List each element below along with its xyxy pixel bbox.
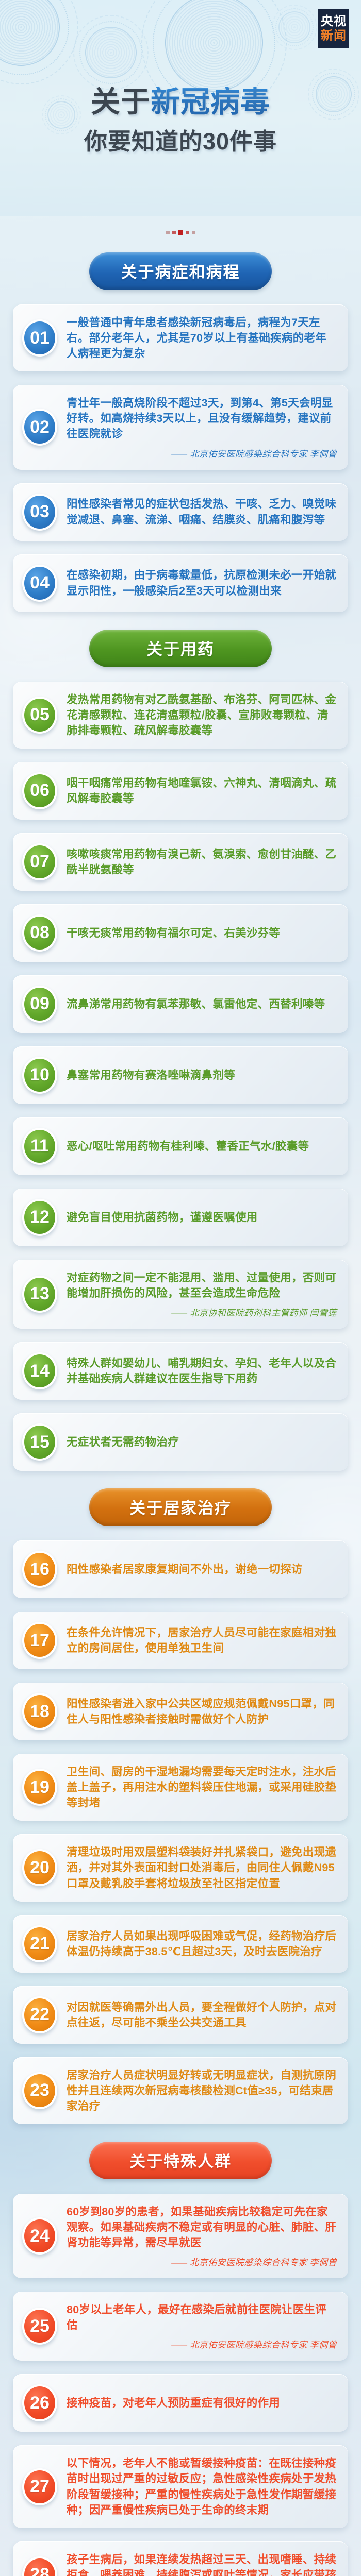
fact-text: 特殊人群如婴幼儿、哺乳期妇女、孕妇、老年人以及合并基础疾病人群建议在医生指导下用… (67, 1355, 337, 1386)
fact-number-badge: 28 (22, 2556, 57, 2576)
fact-attribution: —— 北京佑安医院感染综合科专家 李侗曾 (67, 2255, 337, 2268)
fact-number-badge: 06 (22, 772, 57, 809)
fact-text: 清理垃圾时用双层塑料袋装好并扎紧袋口，避免出现遗洒，并对其外表面和封口处消毒后，… (67, 1844, 337, 1891)
fact-text: 居家治疗人员症状明显好转或无明显症状，自测抗原阴性并且连续两次新冠病毒核酸检测C… (67, 2067, 337, 2114)
fact-card: 03阳性感染者常见的症状包括发热、干咳、乏力、嗅觉味觉减退、鼻塞、流涕、咽痛、结… (13, 483, 348, 541)
fact-body: 接种疫苗，对老年人预防重症有很好的作用 (67, 2395, 337, 2411)
fact-text: 阳性感染者进入家中公共区域应规范佩戴N95口罩，同住人与阳性感染者接触时需做好个… (67, 1696, 337, 1727)
fact-body: 60岁到80岁的患者，如果基础疾病比较稳定可先在家观察。如果基础疾病不稳定或有明… (67, 2204, 337, 2268)
fact-body: 青壮年一般高烧阶段不超过3天，到第4、第5天会明显好转。如高烧持续3天以上，且没… (67, 395, 337, 459)
fact-body: 避免盲目使用抗菌药物，谨遵医嘱使用 (67, 1210, 337, 1225)
fact-card: 08干咳无痰常用药物有福尔可定、右美沙芬等 (13, 904, 348, 962)
fact-card: 07咳嗽咳痰常用药物有溴己新、氨溴索、愈创甘油醚、乙酰半胱氨酸等 (13, 833, 348, 891)
fact-body: 居家治疗人员症状明显好转或无明显症状，自测抗原阴性并且连续两次新冠病毒核酸检测C… (67, 2067, 337, 2114)
fact-card: 21居家治疗人员如果出现呼吸困难或气促，经药物治疗后体温仍持续高于38.5℃且超… (13, 1915, 348, 1973)
fact-number-badge: 19 (22, 1769, 57, 1806)
fact-card: 04在感染初期，由于病毒载量低，抗原检测未必一开始就显示阳性，一般感染后2至3天… (13, 554, 348, 612)
fact-text: 无症状者无需药物治疗 (67, 1434, 337, 1450)
fact-number-badge: 21 (22, 1925, 57, 1962)
fact-text: 避免盲目使用抗菌药物，谨遵医嘱使用 (67, 1210, 337, 1225)
fact-number-badge: 02 (22, 409, 57, 446)
fact-body: 清理垃圾时用双层塑料袋装好并扎紧袋口，避免出现遗洒，并对其外表面和封口处消毒后，… (67, 1844, 337, 1891)
fact-text: 一般普通中青年患者感染新冠病毒后，病程为7天左右。部分老年人，尤其是70岁以上有… (67, 315, 337, 361)
fact-number-badge: 07 (22, 843, 57, 880)
fact-text: 对症药物之间一定不能混用、滥用、过量使用，否则可能增加肝损伤的风险，甚至会造成生… (67, 1270, 337, 1301)
fact-number-badge: 16 (22, 1551, 57, 1588)
fact-card: 18阳性感染者进入家中公共区域应规范佩戴N95口罩，同住人与阳性感染者接触时需做… (13, 1683, 348, 1740)
virus-decoration-icon (0, 0, 60, 66)
fact-text: 80岁以上老年人，最好在感染后就前往医院让医生评估 (67, 2302, 337, 2333)
fact-text: 恶心/呕吐常用药物有桂利嗪、藿香正气水/胶囊等 (67, 1139, 337, 1154)
fact-card: 02青壮年一般高烧阶段不超过3天，到第4、第5天会明显好转。如高烧持续3天以上，… (13, 385, 348, 469)
fact-text: 流鼻涕常用药物有氯苯那敏、氯雷他定、西替利嗪等 (67, 996, 337, 1012)
sections-container: 关于病症和病程01一般普通中青年患者感染新冠病毒后，病程为7天左右。部分老年人，… (0, 252, 361, 2576)
section-header: 关于居家治疗 (0, 1488, 361, 1526)
fact-card: 26接种疫苗，对老年人预防重症有很好的作用 (13, 2374, 348, 2432)
virus-decoration-icon (278, 11, 310, 43)
title-part-1: 关于 (91, 86, 151, 118)
logo-line-1: 央视 (321, 15, 347, 28)
fact-body: 以下情况，老年人不能或暂缓接种疫苗：在既往接种疫苗时出现过严重的过敏反应；急性感… (67, 2455, 337, 2517)
fact-card: 17在条件允许情况下，居家治疗人员尽可能在家庭相对独立的房间居住，使用单独卫生间 (13, 1612, 348, 1669)
fact-body: 阳性感染者居家康复期间不外出，谢绝一切探访 (67, 1562, 337, 1577)
fact-number-badge: 17 (22, 1622, 57, 1659)
fact-number-badge: 03 (22, 494, 57, 531)
fact-text: 60岁到80岁的患者，如果基础疾病比较稳定可先在家观察。如果基础疾病不稳定或有明… (67, 2204, 337, 2250)
fact-body: 鼻塞常用药物有赛洛唑啉滴鼻剂等 (67, 1067, 337, 1083)
fact-card: 16阳性感染者居家康复期间不外出，谢绝一切探访 (13, 1540, 348, 1598)
section-title-pill: 关于居家治疗 (89, 1488, 272, 1526)
fact-number-badge: 15 (22, 1423, 57, 1461)
fact-number-badge: 08 (22, 914, 57, 952)
fact-text: 孩子生病后，如果连续发热超过三天、出现嗜睡、持续拒食、喂养困难、持续腹泻或呕吐等… (67, 2552, 337, 2576)
fact-number-badge: 26 (22, 2384, 57, 2421)
fact-card: 23居家治疗人员症状明显好转或无明显症状，自测抗原阴性并且连续两次新冠病毒核酸检… (13, 2057, 348, 2124)
fact-body: 阳性感染者进入家中公共区域应规范佩戴N95口罩，同住人与阳性感染者接触时需做好个… (67, 1696, 337, 1727)
logo-line-2: 新闻 (321, 30, 347, 42)
fact-number-badge: 01 (22, 319, 57, 357)
fact-text: 在感染初期，由于病毒载量低，抗原检测未必一开始就显示阳性，一般感染后2至3天可以… (67, 567, 337, 598)
fact-card: 05发热常用药物有对乙酰氨基酚、布洛芬、阿司匹林、金花清感颗粒、连花清瘟颗粒/胶… (13, 682, 348, 749)
fact-number-badge: 10 (22, 1057, 57, 1094)
section-header: 关于用药 (0, 630, 361, 667)
fact-number-badge: 18 (22, 1693, 57, 1730)
decorative-dot-divider (0, 231, 361, 235)
fact-number-badge: 24 (22, 2217, 57, 2255)
fact-body: 80岁以上老年人，最好在感染后就前往医院让医生评估—— 北京佑安医院感染综合科专… (67, 2302, 337, 2350)
fact-text: 对因就医等确需外出人员，要全程做好个人防护，点对点往返，尽可能不乘坐公共交通工具 (67, 1999, 337, 2030)
fact-number-badge: 11 (22, 1128, 57, 1165)
fact-body: 流鼻涕常用药物有氯苯那敏、氯雷他定、西替利嗪等 (67, 996, 337, 1012)
fact-card: 20清理垃圾时用双层塑料袋装好并扎紧袋口，避免出现遗洒，并对其外表面和封口处消毒… (13, 1834, 348, 1901)
fact-attribution: —— 北京佑安医院感染综合科专家 李侗曾 (67, 447, 337, 460)
fact-body: 恶心/呕吐常用药物有桂利嗪、藿香正气水/胶囊等 (67, 1139, 337, 1154)
fact-card: 22对因就医等确需外出人员，要全程做好个人防护，点对点往返，尽可能不乘坐公共交通… (13, 1986, 348, 2044)
fact-card: 09流鼻涕常用药物有氯苯那敏、氯雷他定、西替利嗪等 (13, 975, 348, 1033)
fact-body: 卫生间、厨房的干湿地漏均需要每天定时注水，注水后盖上盖子，再用注水的塑料袋压住地… (67, 1764, 337, 1810)
section-title-pill: 关于特殊人群 (89, 2142, 272, 2179)
fact-number-badge: 27 (22, 2468, 57, 2505)
virus-decoration-icon (165, 0, 263, 92)
fact-number-badge: 14 (22, 1352, 57, 1389)
section-title-pill: 关于用药 (89, 630, 272, 667)
fact-text: 发热常用药物有对乙酰氨基酚、布洛芬、阿司匹林、金花清感颗粒、连花清瘟颗粒/胶囊、… (67, 692, 337, 738)
fact-number-badge: 23 (22, 2072, 57, 2109)
fact-body: 无症状者无需药物治疗 (67, 1434, 337, 1450)
fact-text: 接种疫苗，对老年人预防重症有很好的作用 (67, 2395, 337, 2411)
fact-text: 在条件允许情况下，居家治疗人员尽可能在家庭相对独立的房间居住，使用单独卫生间 (67, 1625, 337, 1656)
fact-body: 咳嗽咳痰常用药物有溴己新、氨溴索、愈创甘油醚、乙酰半胱氨酸等 (67, 846, 337, 877)
fact-text: 卫生间、厨房的干湿地漏均需要每天定时注水，注水后盖上盖子，再用注水的塑料袋压住地… (67, 1764, 337, 1810)
fact-card: 28孩子生病后，如果连续发热超过三天、出现嗜睡、持续拒食、喂养困难、持续腹泻或呕… (13, 2541, 348, 2576)
cctv-news-logo-top: 央视 新闻 (318, 9, 349, 48)
fact-attribution: —— 北京佑安医院感染综合科专家 李侗曾 (67, 2337, 337, 2350)
fact-card: 06咽干咽痛常用药物有地喹氯铵、六神丸、清咽滴丸、疏风解毒胶囊等 (13, 762, 348, 820)
fact-card: 2460岁到80岁的患者，如果基础疾病比较稳定可先在家观察。如果基础疾病不稳定或… (13, 2194, 348, 2278)
fact-number-badge: 04 (22, 565, 57, 602)
fact-body: 对因就医等确需外出人员，要全程做好个人防护，点对点往返，尽可能不乘坐公共交通工具 (67, 1999, 337, 2030)
fact-body: 咽干咽痛常用药物有地喹氯铵、六神丸、清咽滴丸、疏风解毒胶囊等 (67, 775, 337, 806)
fact-number-badge: 22 (22, 1996, 57, 2033)
fact-body: 对症药物之间一定不能混用、滥用、过量使用，否则可能增加肝损伤的风险，甚至会造成生… (67, 1270, 337, 1318)
section-header: 关于特殊人群 (0, 2142, 361, 2179)
fact-body: 阳性感染者常见的症状包括发热、干咳、乏力、嗅觉味觉减退、鼻塞、流涕、咽痛、结膜炎… (67, 496, 337, 527)
page-title: 关于新冠病毒 你要知道的30件事 (0, 87, 361, 156)
fact-card: 01一般普通中青年患者感染新冠病毒后，病程为7天左右。部分老年人，尤其是70岁以… (13, 304, 348, 371)
fact-card: 2580岁以上老年人，最好在感染后就前往医院让医生评估—— 北京佑安医院感染综合… (13, 2292, 348, 2361)
fact-card: 13对症药物之间一定不能混用、滥用、过量使用，否则可能增加肝损伤的风险，甚至会造… (13, 1260, 348, 1329)
fact-text: 阳性感染者居家康复期间不外出，谢绝一切探访 (67, 1562, 337, 1577)
title-part-2: 新冠病毒 (151, 86, 270, 118)
fact-card: 14特殊人群如婴幼儿、哺乳期妇女、孕妇、老年人以及合并基础疾病人群建议在医生指导… (13, 1342, 348, 1400)
fact-body: 孩子生病后，如果连续发热超过三天、出现嗜睡、持续拒食、喂养困难、持续腹泻或呕吐等… (67, 2552, 337, 2576)
fact-body: 干咳无痰常用药物有福尔可定、右美沙芬等 (67, 925, 337, 941)
virus-decoration-icon (85, 27, 137, 78)
fact-text: 干咳无痰常用药物有福尔可定、右美沙芬等 (67, 925, 337, 941)
fact-card: 10鼻塞常用药物有赛洛唑啉滴鼻剂等 (13, 1046, 348, 1104)
fact-text: 鼻塞常用药物有赛洛唑啉滴鼻剂等 (67, 1067, 337, 1083)
infographic-page: 央视 新闻 关于新冠病毒 你要知道的30件事 关于病症和病程01一般普通中青年患… (0, 0, 361, 2576)
fact-number-badge: 20 (22, 1849, 57, 1886)
fact-body: 在条件允许情况下，居家治疗人员尽可能在家庭相对独立的房间居住，使用单独卫生间 (67, 1625, 337, 1656)
fact-body: 在感染初期，由于病毒载量低，抗原检测未必一开始就显示阳性，一般感染后2至3天可以… (67, 567, 337, 598)
fact-card: 15无症状者无需药物治疗 (13, 1413, 348, 1471)
fact-number-badge: 13 (22, 1276, 57, 1313)
fact-number-badge: 05 (22, 697, 57, 734)
fact-attribution: —— 北京协和医院药剂科主管药师 闫雪莲 (67, 1306, 337, 1318)
fact-card: 11恶心/呕吐常用药物有桂利嗪、藿香正气水/胶囊等 (13, 1117, 348, 1175)
fact-body: 特殊人群如婴幼儿、哺乳期妇女、孕妇、老年人以及合并基础疾病人群建议在医生指导下用… (67, 1355, 337, 1386)
fact-number-badge: 25 (22, 2308, 57, 2345)
fact-text: 居家治疗人员如果出现呼吸困难或气促，经药物治疗后体温仍持续高于38.5℃且超过3… (67, 1928, 337, 1959)
fact-number-badge: 12 (22, 1199, 57, 1236)
fact-text: 咳嗽咳痰常用药物有溴己新、氨溴索、愈创甘油醚、乙酰半胱氨酸等 (67, 846, 337, 877)
fact-text: 青壮年一般高烧阶段不超过3天，到第4、第5天会明显好转。如高烧持续3天以上，且没… (67, 395, 337, 442)
fact-text: 阳性感染者常见的症状包括发热、干咳、乏力、嗅觉味觉减退、鼻塞、流涕、咽痛、结膜炎… (67, 496, 337, 527)
section-title-pill: 关于病症和病程 (89, 252, 272, 290)
fact-card: 27以下情况，老年人不能或暂缓接种疫苗：在既往接种疫苗时出现过严重的过敏反应；急… (13, 2445, 348, 2528)
fact-body: 发热常用药物有对乙酰氨基酚、布洛芬、阿司匹林、金花清感颗粒、连花清瘟颗粒/胶囊、… (67, 692, 337, 738)
fact-body: 居家治疗人员如果出现呼吸困难或气促，经药物治疗后体温仍持续高于38.5℃且超过3… (67, 1928, 337, 1959)
fact-number-badge: 09 (22, 986, 57, 1023)
fact-body: 一般普通中青年患者感染新冠病毒后，病程为7天左右。部分老年人，尤其是70岁以上有… (67, 315, 337, 361)
fact-card: 12避免盲目使用抗菌药物，谨遵医嘱使用 (13, 1189, 348, 1246)
section-header: 关于病症和病程 (0, 252, 361, 290)
fact-text: 以下情况，老年人不能或暂缓接种疫苗：在既往接种疫苗时出现过严重的过敏反应；急性感… (67, 2455, 337, 2517)
hero-banner: 央视 新闻 关于新冠病毒 你要知道的30件事 (0, 0, 361, 216)
fact-card: 19卫生间、厨房的干湿地漏均需要每天定时注水，注水后盖上盖子，再用注水的塑料袋压… (13, 1754, 348, 1821)
page-subtitle: 你要知道的30件事 (0, 123, 361, 156)
fact-text: 咽干咽痛常用药物有地喹氯铵、六神丸、清咽滴丸、疏风解毒胶囊等 (67, 775, 337, 806)
